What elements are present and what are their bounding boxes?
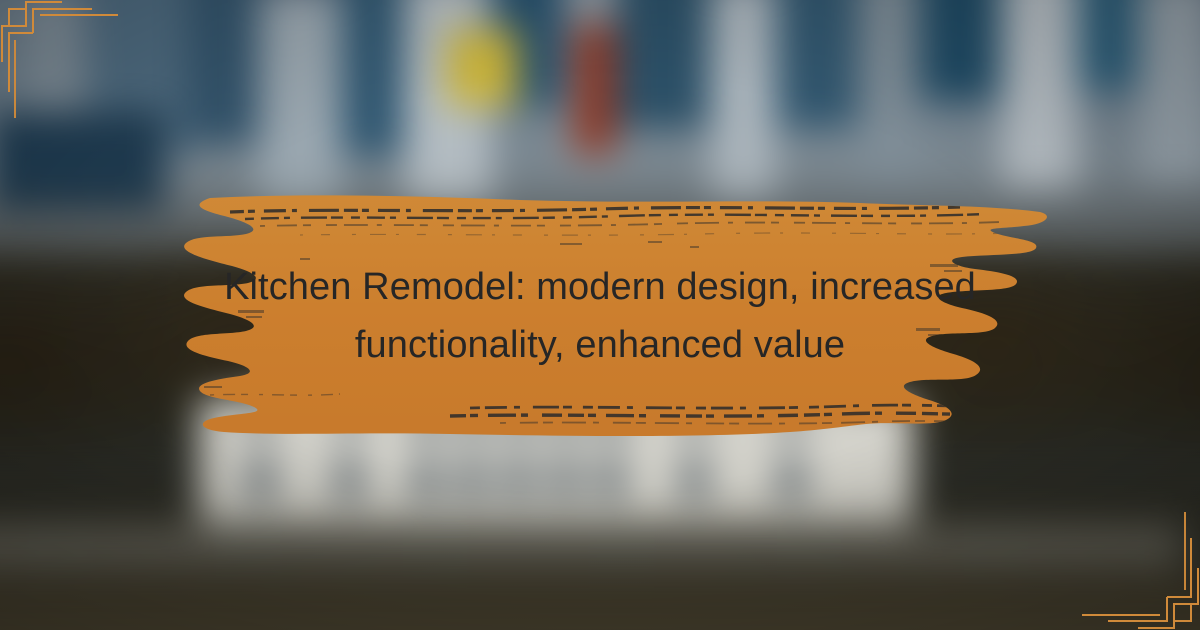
social-banner-card: Kitchen Remodel: modern design, increase… (0, 0, 1200, 630)
corner-ornament-top-left (0, 0, 130, 130)
page-title: Kitchen Remodel: modern design, increase… (150, 258, 1050, 374)
corner-ornament-bottom-right (1070, 500, 1200, 630)
